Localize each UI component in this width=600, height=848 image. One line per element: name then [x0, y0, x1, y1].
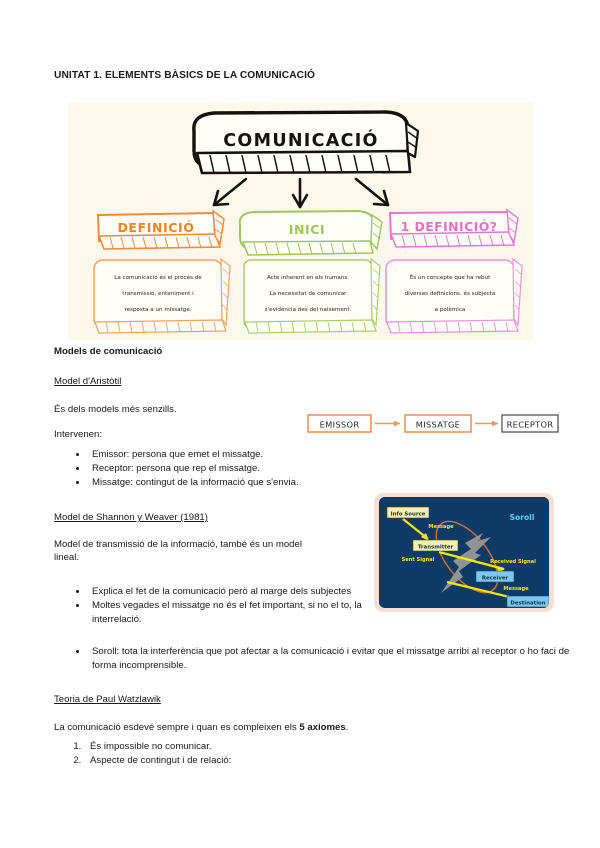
watzlawick-intro-after: . [346, 722, 349, 733]
label-destination: Destination [510, 600, 545, 606]
list-item: És impossible no comunicar. [84, 740, 484, 754]
arrow-emissor-missatge [375, 421, 400, 427]
watzlawick-intro: La comunicació esdevé sempre i quan es c… [54, 722, 474, 735]
shannon-bullet-list-narrow: Explica el fet de la comunicació però al… [54, 585, 394, 627]
label-received-signal: Received Signal [490, 559, 536, 565]
branch-text-1-line-2: s'evidencia des del naixement. [265, 307, 352, 313]
node-label-emissor: EMISSOR [320, 420, 360, 430]
branch-text-0-line-2: resposta a un missatge. [124, 307, 191, 313]
shannon-bullet-list-wide: Soroll: tota la interferència que pot af… [54, 645, 588, 673]
aristotle-heading: Model d'Aristòtil [54, 376, 354, 388]
label-sent-signal: Sent Signal [402, 557, 435, 563]
node-label-receptor: RECEPTOR [507, 420, 554, 430]
branch-text-2-line-0: És un concepte que ha rebut [410, 273, 491, 281]
watzlawick-axiom-list: És impossible no comunicar. Aspecte de c… [54, 740, 484, 769]
branch-text-0-line-1: transmissió, enteniment i [122, 290, 194, 297]
list-item: Aspecte de contingut i de relació: [84, 754, 484, 768]
label-soroll: Soroll [510, 513, 535, 522]
list-item: Explica el fet de la comunicació però al… [88, 585, 394, 599]
watzlawick-intro-before: La comunicació esdevé sempre i quan es c… [54, 722, 299, 733]
communication-infographic: COMUNICACIÓ [68, 103, 533, 340]
branch-text-1-line-1: La necessitat de comunicar [270, 291, 348, 297]
watzlawick-heading: Teoria de Paul Watzlawik [54, 694, 454, 706]
shannon-weaver-diagram-image: Info Source Message Transmitter Sent Sig… [374, 493, 554, 612]
branch-label-0: DEFINICIÓ [117, 220, 194, 235]
branch-label-1: INICI [289, 222, 326, 237]
list-item: Missatge: contingut de la informació que… [88, 476, 418, 490]
arrow-left [214, 179, 246, 205]
arrow-center [293, 179, 307, 207]
label-message-2: Message [503, 586, 529, 592]
branch-text-2-line-1: diverses definicions. és subjecta [405, 290, 496, 297]
aristotle-linear-diagram: EMISSOR MISSATGE RECEPTOR [307, 412, 559, 438]
document-page: UNITAT 1. ELEMENTS BÀSICS DE LA COMUNICA… [0, 0, 600, 848]
branch-text-1-line-0: Acte inherent en els humans. [267, 275, 349, 281]
watzlawick-intro-bold: 5 axiomes [299, 722, 345, 733]
list-item: Emissor: persona que emet el missatge. [88, 448, 418, 462]
list-item: Soroll: tota la interferència que pot af… [88, 645, 588, 673]
models-section: Models de comunicació [54, 346, 354, 358]
models-heading: Models de comunicació [54, 346, 354, 358]
branch-text-2-line-2: a polèmica [435, 306, 466, 313]
arrow-right [356, 179, 388, 205]
shannon-intro: Model de transmissió de la informació, t… [54, 539, 329, 565]
list-item: Moltes vegades el missatge no és el fet … [88, 599, 394, 627]
page-title: UNITAT 1. ELEMENTS BÀSICS DE LA COMUNICA… [54, 70, 554, 82]
shannon-heading: Model de Shannon y Weaver (1981) [54, 512, 354, 524]
label-info-source: Info Source [391, 511, 426, 517]
aristotle-bullet-list: Emissor: persona que emet el missatge. R… [54, 448, 418, 490]
aristotle-section: Model d'Aristòtil [54, 376, 354, 388]
document-body: UNITAT 1. ELEMENTS BÀSICS DE LA COMUNICA… [54, 0, 554, 82]
list-item: Receptor: persona que rep el missatge. [88, 462, 418, 476]
branch-label-2: 1 DEFINICIÓ? [401, 219, 498, 234]
label-message-1: Message [428, 524, 454, 530]
label-transmitter: Transmitter [418, 544, 454, 550]
shannon-weaver-canvas: Info Source Message Transmitter Sent Sig… [379, 497, 549, 608]
label-receiver: Receiver [482, 575, 509, 581]
central-node-label: COMUNICACIÓ [223, 129, 378, 151]
arrow-missatge-receptor [475, 421, 498, 427]
branch-text-0-line-0: La comunicació és el procés de [114, 274, 202, 281]
node-label-missatge: MISSATGE [416, 420, 460, 430]
